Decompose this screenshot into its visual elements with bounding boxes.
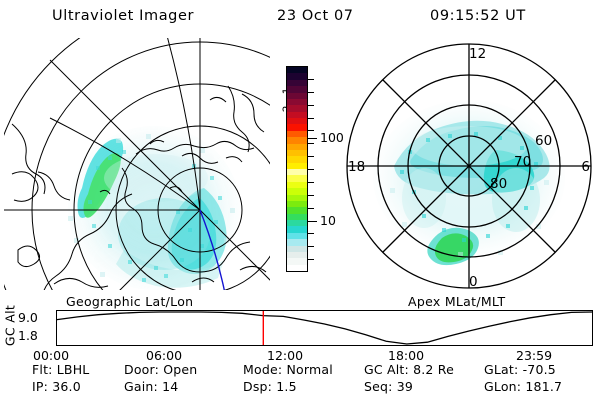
mlat-label-80: 80 (490, 176, 507, 192)
status-row-secondary: IP: 36.0Gain: 14Dsp: 1.5Seq: 39GLon: 181… (0, 379, 600, 397)
colorbar-minor-tick (308, 195, 314, 196)
colorbar-minor-tick (308, 246, 314, 247)
mlat-label-70: 70 (514, 154, 531, 170)
apex-grid (347, 44, 591, 288)
orbit-xtick-label: 12:00 (267, 348, 303, 363)
status-field: Dsp: 1.5 (243, 379, 297, 394)
uvi-viewer: Ultraviolet Imager 23 Oct 07 09:15:52 UT (0, 0, 600, 400)
mlt-label-0: 0 (469, 274, 478, 290)
status-field: IP: 36.0 (32, 379, 81, 394)
geographic-plot[interactable] (4, 38, 270, 290)
status-field: GC Alt: 8.2 Re (364, 362, 454, 377)
mlt-label-12: 12 (469, 46, 486, 62)
orbit-xtick-label: 00:00 (33, 348, 69, 363)
colorbar-minor-tick (308, 105, 314, 106)
observation-time: 09:15:52 UT (430, 8, 526, 24)
colorbar-minor-tick (308, 259, 314, 260)
colorbar-ticks: 10010 (308, 66, 342, 272)
orbit-ytick-high: 9.0 (18, 310, 38, 325)
orbit-xtick-label: 23:59 (516, 348, 552, 363)
orbit-xtick-label: 06:00 (146, 348, 182, 363)
geo-canvas (4, 38, 270, 290)
colorbar-gradient (286, 66, 308, 272)
colorbar-minor-tick (308, 92, 314, 93)
colorbar-segment (287, 265, 307, 271)
mlt-label-18: 18 (348, 159, 365, 175)
orbit-trace-box (56, 310, 593, 346)
status-bar: Flt: LBHLDoor: OpenMode: NormalGC Alt: 8… (0, 362, 600, 400)
colorbar-minor-tick (308, 118, 314, 119)
instrument-title: Ultraviolet Imager (52, 8, 194, 24)
header-bar: Ultraviolet Imager 23 Oct 07 09:15:52 UT (0, 4, 600, 28)
status-field: Mode: Normal (243, 362, 333, 377)
status-field: Seq: 39 (364, 379, 413, 394)
mlat-label-60: 60 (535, 133, 552, 149)
colorbar: photon cm-2s-1 10010 (262, 50, 342, 290)
colorbar-minor-tick (308, 182, 314, 183)
status-field: Flt: LBHL (32, 362, 89, 377)
status-field: GLon: 181.7 (484, 379, 562, 394)
orbit-xtick-label: 18:00 (388, 348, 424, 363)
colorbar-tick-label: 10 (320, 215, 336, 228)
orbit-altitude-plot[interactable]: GC Alt 9.0 1.8 00:0006:0012:0018:0023:59 (0, 306, 600, 356)
observation-date: 23 Oct 07 (277, 8, 354, 24)
colorbar-minor-tick (308, 233, 314, 234)
colorbar-minor-tick (308, 79, 314, 80)
orbit-ylabel: GC Alt (3, 300, 18, 352)
colorbar-minor-tick (308, 169, 314, 170)
status-field: GLat: -70.5 (484, 362, 556, 377)
colorbar-minor-tick (308, 208, 314, 209)
colorbar-minor-tick (308, 156, 314, 157)
mlt-label-6: 6 (581, 159, 590, 175)
status-row-primary: Flt: LBHLDoor: OpenMode: NormalGC Alt: 8… (0, 362, 600, 380)
colorbar-minor-tick (308, 143, 314, 144)
orbit-ytick-low: 1.8 (18, 328, 38, 343)
colorbar-major-tick (308, 138, 317, 139)
status-field: Gain: 14 (124, 379, 178, 394)
aurora-emission-geo (68, 126, 240, 290)
colorbar-major-tick (308, 221, 317, 222)
colorbar-minor-tick (308, 130, 314, 131)
apex-plot[interactable]: 12 18 6 0 60 70 80 (338, 38, 600, 290)
status-field: Door: Open (124, 362, 197, 377)
